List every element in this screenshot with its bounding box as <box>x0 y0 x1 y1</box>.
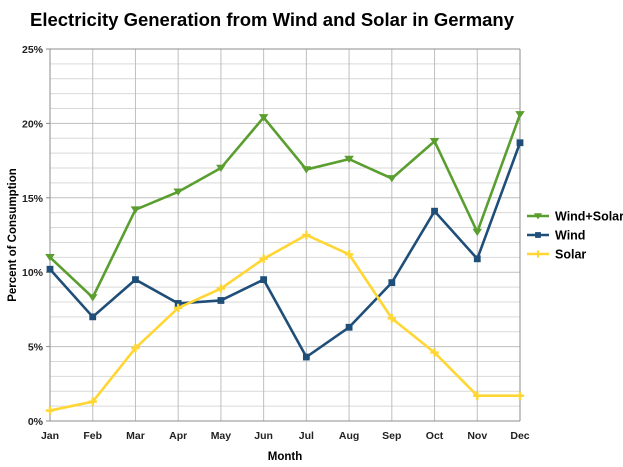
y-axis-tick-labels: 0%5%10%15%20%25% <box>22 44 50 428</box>
data-point-marker <box>472 229 482 236</box>
data-point-marker <box>474 255 481 262</box>
data-point-marker <box>260 276 267 283</box>
x-axis-tick-label: Oct <box>426 430 444 442</box>
x-axis-tick-label: May <box>211 430 232 442</box>
y-axis-title: Percent of Consumption <box>7 168 19 302</box>
data-point-marker <box>388 279 395 286</box>
x-axis-tick-label: Nov <box>467 430 487 442</box>
legend-swatch-marker <box>534 250 541 257</box>
x-axis-tick-label: Mar <box>126 430 145 442</box>
legend-swatch-marker <box>535 232 541 238</box>
legend-item-wind-plus-solar[interactable]: Wind+Solar <box>527 210 623 224</box>
y-axis-tick-label: 5% <box>28 342 44 354</box>
data-point-marker <box>47 266 54 273</box>
x-axis-tick-labels: JanFebMarAprMayJunJulAugSepOctNovDec <box>41 430 530 442</box>
data-point-marker <box>517 139 524 146</box>
series-wind <box>47 139 524 360</box>
y-axis-tick-label: 20% <box>22 118 44 130</box>
series-wind-plus-solar <box>45 111 525 301</box>
legend-item-solar[interactable]: Solar <box>527 248 586 262</box>
x-axis-tick-label: Jul <box>299 430 314 442</box>
y-axis-tick-label: 0% <box>28 416 44 428</box>
x-axis-tick-label: Aug <box>339 430 359 442</box>
chart-legend: Wind+SolarWindSolar <box>527 210 623 262</box>
x-axis-tick-label: Jun <box>254 430 273 442</box>
y-axis-tick-label: 15% <box>22 193 44 205</box>
data-point-marker <box>46 406 54 414</box>
legend-item-wind[interactable]: Wind <box>527 229 585 243</box>
data-point-marker <box>88 294 98 301</box>
chart-canvas: Electricity Generation from Wind and Sol… <box>0 0 623 467</box>
data-series-group <box>45 111 525 415</box>
legend-label: Solar <box>555 248 586 262</box>
y-axis-tick-label: 10% <box>22 267 44 279</box>
data-point-marker <box>431 208 438 215</box>
series-line <box>50 114 520 297</box>
chart-title: Electricity Generation from Wind and Sol… <box>30 9 515 30</box>
data-point-marker <box>89 313 96 320</box>
data-point-marker <box>516 392 524 400</box>
data-point-marker <box>303 354 310 361</box>
x-axis-title: Month <box>268 451 302 463</box>
series-line <box>50 235 520 411</box>
x-axis-tick-label: Sep <box>382 430 401 442</box>
x-axis-tick-label: Feb <box>83 430 102 442</box>
legend-label: Wind+Solar <box>555 210 623 224</box>
x-axis-tick-label: Jan <box>41 430 59 442</box>
data-point-marker <box>387 175 397 182</box>
data-point-marker <box>346 324 353 331</box>
series-solar <box>46 231 524 415</box>
data-point-marker <box>218 297 225 304</box>
data-point-marker <box>515 111 525 118</box>
data-point-marker <box>132 276 139 283</box>
legend-label: Wind <box>555 229 585 243</box>
x-axis-tick-label: Dec <box>510 430 529 442</box>
y-axis-tick-label: 25% <box>22 44 44 56</box>
x-axis-tick-label: Apr <box>169 430 187 442</box>
